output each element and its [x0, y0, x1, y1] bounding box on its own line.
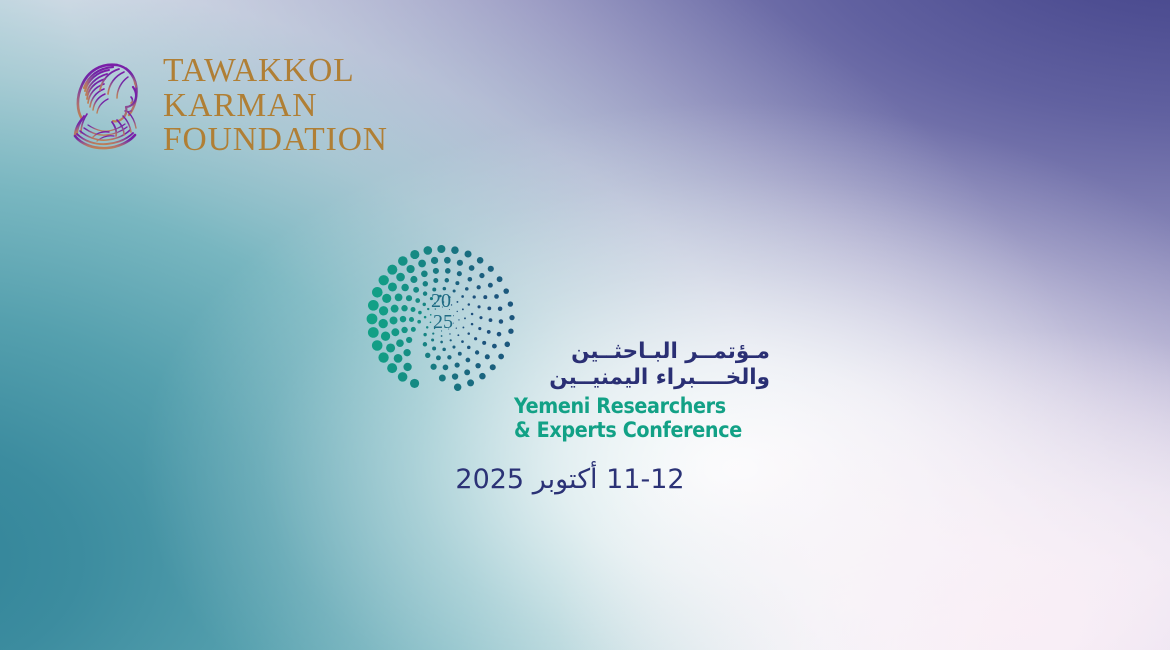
conference-english-title: Yemeni Researchers & Experts Conference [514, 395, 770, 443]
conference-title-block: مـؤتمــر البـاحثــين والخــــبراء اليمني… [514, 339, 770, 443]
foundation-wordmark: TAWAKKOL KARMAN FOUNDATION [163, 54, 388, 158]
foundation-logo: TAWAKKOL KARMAN FOUNDATION [57, 52, 388, 158]
conference-arabic-line-1: مـؤتمــر البـاحثــين [514, 339, 770, 365]
conference-date: 11-12 أكتوبر 2025 [400, 464, 740, 495]
conference-logo-lockup: 20 25 مـؤتمــر البـاحثــين والخــــبراء … [366, 243, 766, 443]
spiral-year-top: 20 [431, 290, 451, 312]
spiral-year-bottom: 25 [433, 311, 453, 333]
conference-english-line-2: & Experts Conference [514, 419, 770, 443]
conference-banner: TAWAKKOL KARMAN FOUNDATION 20 25 مـؤتمــ… [0, 0, 1170, 650]
conference-arabic-title: مـؤتمــر البـاحثــين والخــــبراء اليمني… [514, 339, 770, 391]
foundation-wordmark-line-2: KARMAN [163, 89, 388, 124]
conference-english-line-1: Yemeni Researchers [514, 395, 770, 419]
foundation-wordmark-line-3: FOUNDATION [163, 123, 388, 158]
dotted-spiral-icon: 20 25 [366, 243, 526, 403]
foundation-wordmark-line-1: TAWAKKOL [163, 54, 388, 89]
conference-arabic-line-2: والخــــبراء اليمنيــين [514, 365, 770, 391]
hijab-woman-portrait-icon [57, 56, 149, 154]
